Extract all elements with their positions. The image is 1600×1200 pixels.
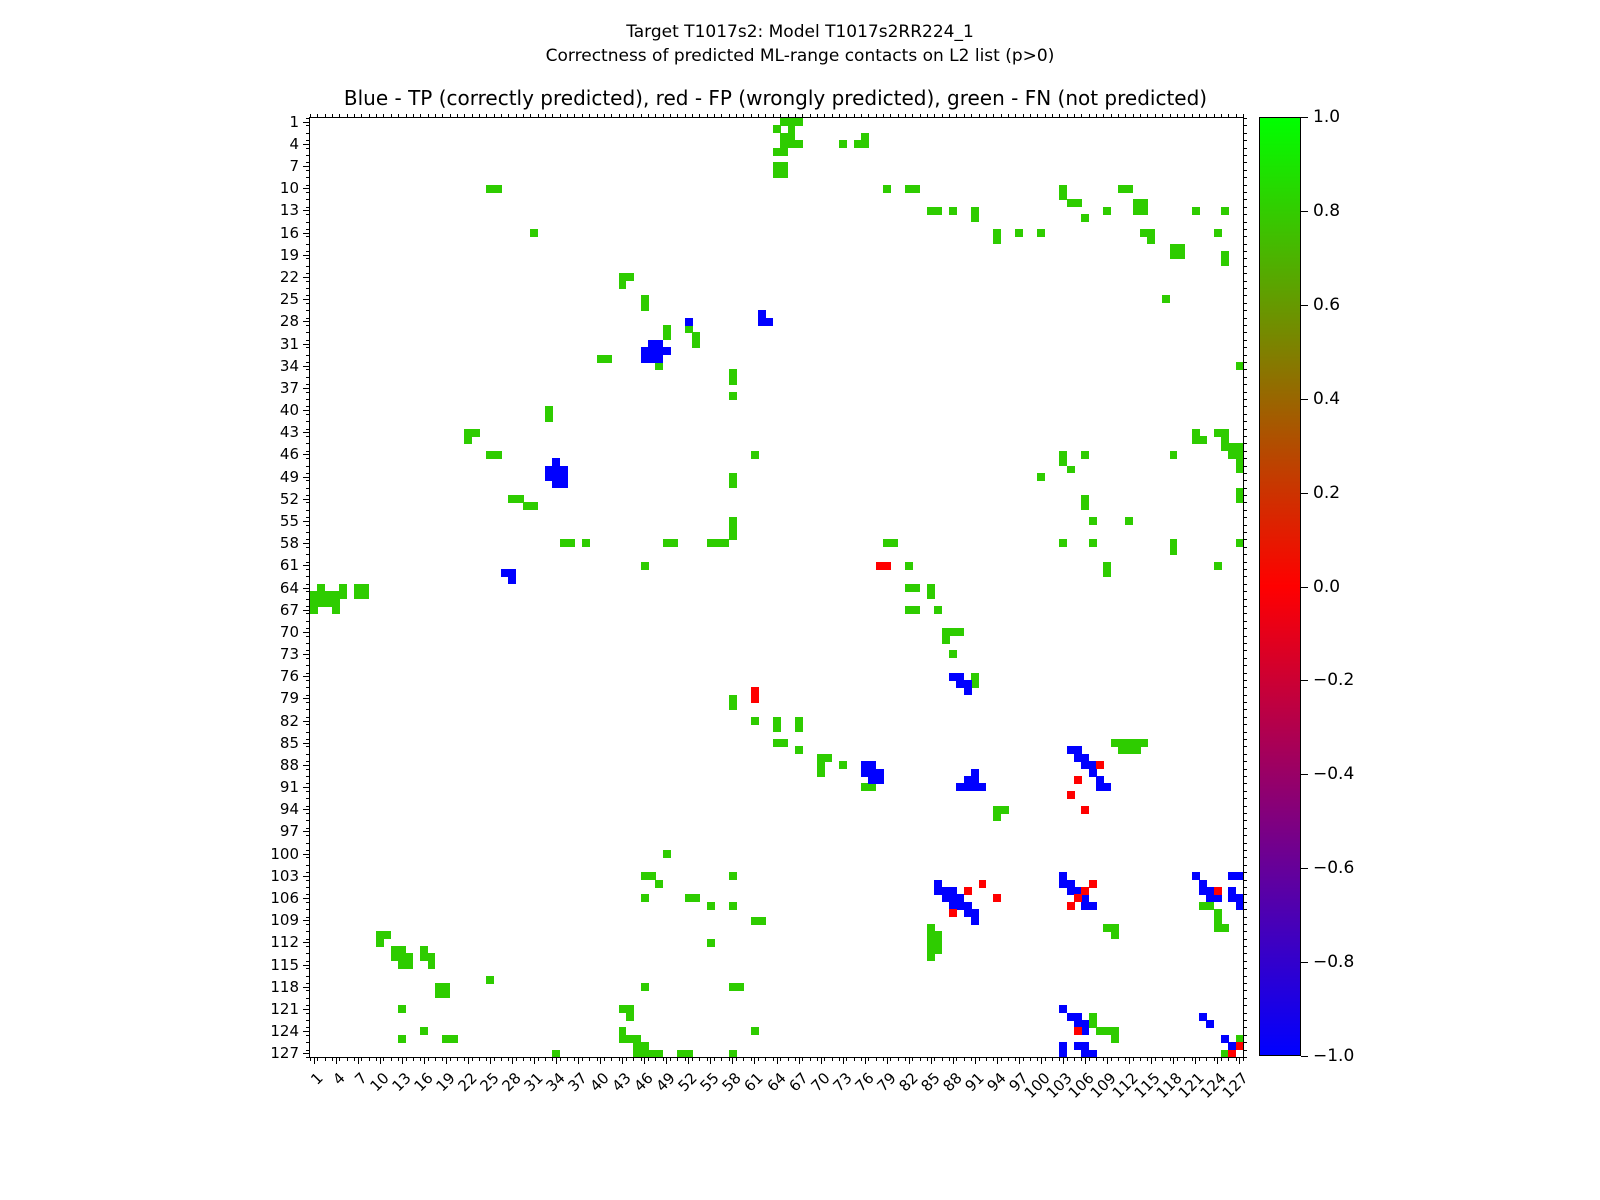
x-minor-tick-top bbox=[743, 114, 744, 118]
x-minor-tick bbox=[1199, 1057, 1200, 1061]
y-axis-tick-label: 109 bbox=[270, 911, 299, 929]
x-minor-tick-top bbox=[979, 114, 980, 118]
contact-cell bbox=[876, 562, 884, 570]
colorbar-tick bbox=[1301, 305, 1308, 306]
contact-cell bbox=[1089, 880, 1097, 888]
x-minor-tick-top bbox=[817, 114, 818, 118]
x-minor-tick-top bbox=[435, 114, 436, 118]
x-minor-tick-top bbox=[685, 114, 686, 118]
contact-cell bbox=[927, 953, 935, 961]
y-minor-tick-right bbox=[1243, 355, 1247, 356]
x-minor-tick-top bbox=[971, 114, 972, 118]
x-minor-tick bbox=[758, 1057, 759, 1061]
x-minor-tick bbox=[876, 1057, 877, 1061]
contact-cell bbox=[912, 185, 920, 193]
y-minor-tick-right bbox=[1243, 761, 1247, 762]
x-minor-tick bbox=[905, 1057, 906, 1061]
y-major-tick bbox=[303, 521, 310, 522]
y-axis-tick-label: 85 bbox=[280, 734, 299, 752]
contact-cell bbox=[655, 1050, 663, 1057]
y-minor-tick bbox=[306, 680, 310, 681]
contact-cell bbox=[949, 909, 957, 917]
contact-cell bbox=[332, 606, 340, 614]
colorbar-tick bbox=[1301, 117, 1308, 118]
y-major-tick bbox=[303, 565, 310, 566]
x-minor-tick bbox=[839, 1057, 840, 1061]
y-minor-tick bbox=[306, 872, 310, 873]
x-minor-tick bbox=[802, 1057, 803, 1061]
contact-cell bbox=[626, 273, 634, 281]
y-minor-tick-right bbox=[1243, 709, 1247, 710]
y-minor-tick-right bbox=[1243, 532, 1247, 533]
x-minor-tick-top bbox=[494, 114, 495, 118]
colorbar-tick bbox=[1301, 1056, 1308, 1057]
contact-cell bbox=[1103, 207, 1111, 215]
x-major-tick bbox=[1085, 1057, 1086, 1064]
x-minor-tick bbox=[817, 1057, 818, 1061]
y-minor-tick bbox=[306, 199, 310, 200]
y-minor-tick-right bbox=[1243, 717, 1247, 718]
colorbar-tick-label: 0.6 bbox=[1313, 295, 1340, 315]
x-minor-tick-top bbox=[1214, 114, 1215, 118]
contact-cell bbox=[934, 606, 942, 614]
y-minor-tick-right bbox=[1243, 813, 1247, 814]
y-minor-tick-right bbox=[1243, 118, 1247, 119]
contact-cell bbox=[751, 1027, 759, 1035]
x-minor-tick bbox=[663, 1057, 664, 1061]
x-minor-tick-top bbox=[369, 114, 370, 118]
x-minor-tick bbox=[391, 1057, 392, 1061]
x-minor-tick bbox=[714, 1057, 715, 1061]
x-minor-tick bbox=[773, 1057, 774, 1061]
contact-cell bbox=[1133, 746, 1141, 754]
y-minor-tick bbox=[306, 636, 310, 637]
colorbar-tick-label: 1.0 bbox=[1313, 107, 1340, 127]
y-minor-tick bbox=[306, 318, 310, 319]
y-minor-tick bbox=[306, 717, 310, 718]
x-minor-tick-top bbox=[589, 114, 590, 118]
contact-cell bbox=[1236, 362, 1243, 370]
y-axis-tick-label: 40 bbox=[280, 401, 299, 419]
y-minor-tick bbox=[306, 332, 310, 333]
x-minor-tick-top bbox=[641, 114, 642, 118]
y-minor-tick-right bbox=[1243, 746, 1247, 747]
y-minor-tick-right bbox=[1243, 207, 1247, 208]
x-minor-tick bbox=[934, 1057, 935, 1061]
y-minor-tick bbox=[306, 258, 310, 259]
x-major-tick bbox=[1129, 1057, 1130, 1064]
x-minor-tick-top bbox=[839, 114, 840, 118]
x-minor-tick bbox=[611, 1057, 612, 1061]
x-major-tick bbox=[1041, 1057, 1042, 1064]
y-minor-tick-right bbox=[1243, 1020, 1247, 1021]
x-minor-tick-top bbox=[949, 114, 950, 118]
contact-cell bbox=[964, 687, 972, 695]
y-minor-tick bbox=[306, 207, 310, 208]
x-minor-tick bbox=[347, 1057, 348, 1061]
y-minor-tick-right bbox=[1243, 576, 1247, 577]
y-minor-tick-right bbox=[1243, 214, 1247, 215]
y-minor-tick bbox=[306, 953, 310, 954]
contact-cell bbox=[839, 140, 847, 148]
y-minor-tick bbox=[306, 843, 310, 844]
y-minor-tick bbox=[306, 547, 310, 548]
x-minor-tick-top bbox=[391, 114, 392, 118]
contact-cell bbox=[1074, 776, 1082, 784]
contact-cell bbox=[1162, 295, 1170, 303]
y-axis-tick-label: 28 bbox=[280, 312, 299, 330]
x-minor-tick-top bbox=[472, 114, 473, 118]
y-minor-tick bbox=[306, 709, 310, 710]
x-minor-tick bbox=[589, 1057, 590, 1061]
y-minor-tick bbox=[306, 621, 310, 622]
contact-cell bbox=[780, 148, 788, 156]
y-minor-tick-right bbox=[1243, 229, 1247, 230]
y-minor-tick bbox=[306, 554, 310, 555]
y-minor-tick bbox=[306, 517, 310, 518]
contact-cell bbox=[670, 539, 678, 547]
y-axis-tick-label: 34 bbox=[280, 357, 299, 375]
contact-cell bbox=[1228, 1050, 1236, 1057]
y-minor-tick-right bbox=[1243, 140, 1247, 141]
y-axis-tick-label: 124 bbox=[270, 1022, 299, 1040]
x-minor-tick bbox=[354, 1057, 355, 1061]
x-minor-tick-top bbox=[347, 114, 348, 118]
contact-cell bbox=[736, 983, 744, 991]
x-minor-tick-top bbox=[1140, 114, 1141, 118]
y-major-tick bbox=[303, 1053, 310, 1054]
y-minor-tick-right bbox=[1243, 244, 1247, 245]
y-minor-tick bbox=[306, 502, 310, 503]
y-axis-tick-label: 127 bbox=[270, 1044, 299, 1062]
x-minor-tick bbox=[788, 1057, 789, 1061]
y-minor-tick bbox=[306, 924, 310, 925]
x-minor-tick-top bbox=[1111, 114, 1112, 118]
y-minor-tick-right bbox=[1243, 902, 1247, 903]
x-minor-tick bbox=[832, 1057, 833, 1061]
y-minor-tick bbox=[306, 1005, 310, 1006]
x-major-tick bbox=[380, 1057, 381, 1064]
x-minor-tick-top bbox=[619, 114, 620, 118]
y-major-tick bbox=[303, 122, 310, 123]
y-minor-tick-right bbox=[1243, 843, 1247, 844]
contact-cell bbox=[1081, 1027, 1089, 1035]
y-minor-tick-right bbox=[1243, 340, 1247, 341]
y-minor-tick bbox=[306, 148, 310, 149]
contact-cell bbox=[751, 695, 759, 703]
y-minor-tick-right bbox=[1243, 318, 1247, 319]
y-minor-tick bbox=[306, 813, 310, 814]
y-minor-tick-right bbox=[1243, 591, 1247, 592]
x-minor-tick bbox=[1037, 1057, 1038, 1061]
x-minor-tick-top bbox=[956, 114, 957, 118]
y-minor-tick-right bbox=[1243, 894, 1247, 895]
x-minor-tick-top bbox=[545, 114, 546, 118]
y-minor-tick bbox=[306, 628, 310, 629]
y-minor-tick bbox=[306, 377, 310, 378]
x-minor-tick-top bbox=[560, 114, 561, 118]
x-minor-tick bbox=[824, 1057, 825, 1061]
contact-cell bbox=[993, 813, 1001, 821]
x-minor-tick bbox=[1103, 1057, 1104, 1061]
y-minor-tick bbox=[306, 761, 310, 762]
x-major-tick bbox=[997, 1057, 998, 1064]
x-major-tick bbox=[336, 1057, 337, 1064]
x-minor-tick bbox=[1206, 1057, 1207, 1061]
colorbar-tick bbox=[1301, 587, 1308, 588]
contact-cell bbox=[1221, 258, 1229, 266]
y-minor-tick bbox=[306, 369, 310, 370]
y-minor-tick-right bbox=[1243, 872, 1247, 873]
x-minor-tick bbox=[1214, 1057, 1215, 1061]
contact-cell bbox=[1170, 451, 1178, 459]
y-minor-tick bbox=[306, 791, 310, 792]
y-minor-tick-right bbox=[1243, 421, 1247, 422]
x-minor-tick bbox=[655, 1057, 656, 1061]
y-minor-tick bbox=[306, 488, 310, 489]
y-minor-tick bbox=[306, 118, 310, 119]
x-minor-tick-top bbox=[1147, 114, 1148, 118]
y-minor-tick bbox=[306, 902, 310, 903]
x-minor-tick bbox=[530, 1057, 531, 1061]
x-minor-tick-top bbox=[670, 114, 671, 118]
y-minor-tick-right bbox=[1243, 924, 1247, 925]
y-axis-tick-label: 25 bbox=[280, 290, 299, 308]
x-minor-tick bbox=[457, 1057, 458, 1061]
y-minor-tick bbox=[306, 769, 310, 770]
y-axis-tick-label: 100 bbox=[270, 845, 299, 863]
contact-cell bbox=[1103, 783, 1111, 791]
contact-cell bbox=[310, 606, 318, 614]
y-minor-tick bbox=[306, 724, 310, 725]
y-minor-tick bbox=[306, 702, 310, 703]
y-minor-tick bbox=[306, 754, 310, 755]
y-minor-tick-right bbox=[1243, 362, 1247, 363]
y-minor-tick-right bbox=[1243, 325, 1247, 326]
colorbar-tick bbox=[1301, 399, 1308, 400]
contact-cell bbox=[993, 894, 1001, 902]
contact-cell bbox=[450, 1035, 458, 1043]
contact-cell bbox=[685, 1050, 693, 1057]
x-minor-tick bbox=[332, 1057, 333, 1061]
colorbar-tick-label: −0.2 bbox=[1313, 670, 1354, 690]
x-minor-tick-top bbox=[861, 114, 862, 118]
x-minor-tick bbox=[670, 1057, 671, 1061]
y-minor-tick-right bbox=[1243, 724, 1247, 725]
contact-cell bbox=[619, 281, 627, 289]
x-major-tick bbox=[666, 1057, 667, 1064]
x-minor-tick bbox=[707, 1057, 708, 1061]
contact-cell bbox=[964, 783, 972, 791]
y-axis-tick-label: 88 bbox=[280, 756, 299, 774]
y-minor-tick bbox=[306, 347, 310, 348]
x-minor-tick-top bbox=[736, 114, 737, 118]
contact-cell bbox=[655, 355, 663, 363]
contact-cell bbox=[795, 724, 803, 732]
colorbar-tick bbox=[1301, 211, 1308, 212]
contact-cell bbox=[707, 939, 715, 947]
contact-cell bbox=[398, 1005, 406, 1013]
y-minor-tick-right bbox=[1243, 1013, 1247, 1014]
x-minor-tick-top bbox=[1001, 114, 1002, 118]
contact-cell bbox=[729, 702, 737, 710]
y-minor-tick-right bbox=[1243, 384, 1247, 385]
x-minor-tick bbox=[361, 1057, 362, 1061]
y-minor-tick-right bbox=[1243, 976, 1247, 977]
contact-cell bbox=[765, 318, 773, 326]
x-minor-tick-top bbox=[574, 114, 575, 118]
x-major-tick bbox=[622, 1057, 623, 1064]
x-minor-tick bbox=[1030, 1057, 1031, 1061]
contact-cell bbox=[780, 739, 788, 747]
x-minor-tick bbox=[942, 1057, 943, 1061]
contact-cell bbox=[472, 429, 480, 437]
y-minor-tick-right bbox=[1243, 953, 1247, 954]
y-minor-tick bbox=[306, 894, 310, 895]
contact-cell bbox=[949, 650, 957, 658]
y-axis-tick-label: 49 bbox=[280, 468, 299, 486]
x-major-tick bbox=[1107, 1057, 1108, 1064]
y-minor-tick-right bbox=[1243, 510, 1247, 511]
x-major-tick bbox=[358, 1057, 359, 1064]
colorbar-gradient bbox=[1259, 117, 1301, 1056]
y-minor-tick bbox=[306, 687, 310, 688]
x-minor-tick-top bbox=[1221, 114, 1222, 118]
contact-cell bbox=[1236, 902, 1243, 910]
x-minor-tick bbox=[398, 1057, 399, 1061]
y-minor-tick bbox=[306, 473, 310, 474]
y-minor-tick bbox=[306, 584, 310, 585]
contact-cell bbox=[1067, 902, 1075, 910]
x-minor-tick-top bbox=[1177, 114, 1178, 118]
y-minor-tick bbox=[306, 532, 310, 533]
y-minor-tick bbox=[306, 946, 310, 947]
x-minor-tick bbox=[1133, 1057, 1134, 1061]
x-minor-tick-top bbox=[1052, 114, 1053, 118]
contact-cell bbox=[780, 170, 788, 178]
y-minor-tick-right bbox=[1243, 369, 1247, 370]
x-minor-tick-top bbox=[1008, 114, 1009, 118]
y-minor-tick-right bbox=[1243, 199, 1247, 200]
y-minor-tick-right bbox=[1243, 1027, 1247, 1028]
x-minor-tick bbox=[883, 1057, 884, 1061]
y-minor-tick-right bbox=[1243, 377, 1247, 378]
x-minor-tick bbox=[927, 1057, 928, 1061]
x-minor-tick-top bbox=[428, 114, 429, 118]
x-minor-tick bbox=[854, 1057, 855, 1061]
y-minor-tick-right bbox=[1243, 177, 1247, 178]
y-minor-tick-right bbox=[1243, 983, 1247, 984]
y-minor-tick-right bbox=[1243, 946, 1247, 947]
y-axis-tick-label: 58 bbox=[280, 534, 299, 552]
contact-cell bbox=[545, 414, 553, 422]
contact-cell bbox=[663, 850, 671, 858]
x-minor-tick-top bbox=[1125, 114, 1126, 118]
y-minor-tick bbox=[306, 569, 310, 570]
y-axis-tick-label: 7 bbox=[289, 157, 299, 175]
contact-cell bbox=[655, 362, 663, 370]
y-major-tick bbox=[303, 987, 310, 988]
colorbar-tick bbox=[1301, 774, 1308, 775]
contact-cell bbox=[905, 562, 913, 570]
contact-cell bbox=[1111, 1035, 1119, 1043]
y-minor-tick-right bbox=[1243, 547, 1247, 548]
x-minor-tick bbox=[1155, 1057, 1156, 1061]
x-minor-tick-top bbox=[332, 114, 333, 118]
y-major-tick bbox=[303, 321, 310, 322]
x-minor-tick bbox=[450, 1057, 451, 1061]
x-minor-tick-top bbox=[442, 114, 443, 118]
y-minor-tick bbox=[306, 650, 310, 651]
x-minor-tick-top bbox=[1133, 114, 1134, 118]
contact-cell bbox=[1236, 495, 1243, 503]
x-minor-tick-top bbox=[1030, 114, 1031, 118]
y-minor-tick bbox=[306, 443, 310, 444]
x-minor-tick bbox=[949, 1057, 950, 1061]
y-minor-tick bbox=[306, 1057, 310, 1058]
y-major-tick bbox=[303, 898, 310, 899]
y-minor-tick-right bbox=[1243, 466, 1247, 467]
x-minor-tick-top bbox=[457, 114, 458, 118]
x-minor-tick bbox=[420, 1057, 421, 1061]
y-axis-tick-label: 46 bbox=[280, 445, 299, 463]
contact-cell bbox=[406, 961, 414, 969]
x-minor-tick-top bbox=[310, 114, 311, 118]
contact-cell bbox=[971, 214, 979, 222]
contact-cell bbox=[398, 1035, 406, 1043]
x-minor-tick-top bbox=[1236, 114, 1237, 118]
x-major-tick bbox=[468, 1057, 469, 1064]
contact-cell bbox=[912, 606, 920, 614]
legend-subtitle: Blue - TP (correctly predicted), red - F… bbox=[309, 86, 1242, 110]
contact-cell bbox=[560, 480, 568, 488]
x-minor-tick-top bbox=[942, 114, 943, 118]
x-major-tick bbox=[732, 1057, 733, 1064]
contact-cell bbox=[420, 1027, 428, 1035]
y-minor-tick-right bbox=[1243, 806, 1247, 807]
y-minor-tick-right bbox=[1243, 857, 1247, 858]
x-minor-tick-top bbox=[420, 114, 421, 118]
x-minor-tick-top bbox=[854, 114, 855, 118]
x-minor-tick-top bbox=[1015, 114, 1016, 118]
x-minor-tick bbox=[1118, 1057, 1119, 1061]
y-axis-tick-label: 64 bbox=[280, 579, 299, 597]
contact-cell bbox=[692, 894, 700, 902]
legend-subtitle-text: Blue - TP (correctly predicted), red - F… bbox=[309, 86, 1242, 110]
y-minor-tick-right bbox=[1243, 273, 1247, 274]
x-minor-tick bbox=[1170, 1057, 1171, 1061]
y-minor-tick bbox=[306, 776, 310, 777]
contact-cell bbox=[508, 576, 516, 584]
y-minor-tick bbox=[306, 251, 310, 252]
x-minor-tick-top bbox=[714, 114, 715, 118]
x-major-tick bbox=[909, 1057, 910, 1064]
y-minor-tick bbox=[306, 576, 310, 577]
x-minor-tick-top bbox=[765, 114, 766, 118]
x-major-tick bbox=[821, 1057, 822, 1064]
x-minor-tick-top bbox=[832, 114, 833, 118]
y-minor-tick-right bbox=[1243, 628, 1247, 629]
contact-cell bbox=[1059, 539, 1067, 547]
contact-cell bbox=[376, 939, 384, 947]
contact-cell bbox=[1236, 872, 1243, 880]
y-major-tick bbox=[303, 632, 310, 633]
y-minor-tick-right bbox=[1243, 562, 1247, 563]
y-minor-tick bbox=[306, 222, 310, 223]
contact-cell bbox=[1081, 887, 1089, 895]
x-minor-tick bbox=[479, 1057, 480, 1061]
y-major-tick bbox=[303, 299, 310, 300]
